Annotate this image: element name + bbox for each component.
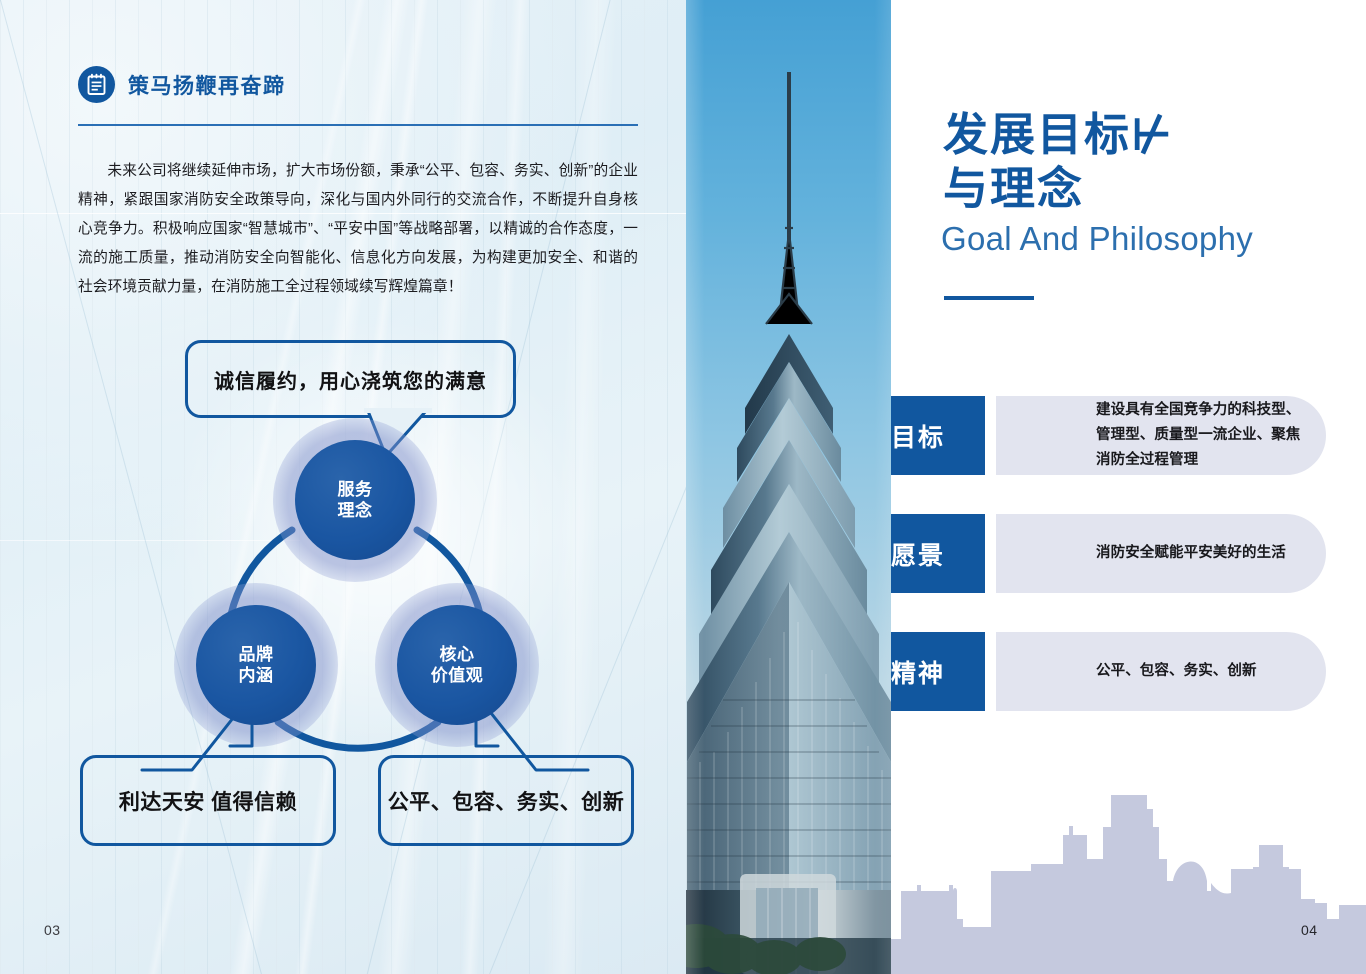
card-body: 建设具有全国竞争力的科技型、管理型、质量型一流企业、聚焦消防全过程管理 xyxy=(996,396,1326,475)
card-description: 公平、包容、务实、创新 xyxy=(996,659,1273,684)
bubble-service-motto: 诚信履约，用心浇筑您的满意 xyxy=(185,340,516,418)
left-page: 策马扬鞭再奋蹄 未来公司将继续延伸市场，扩大市场份额，秉承“公平、包容、务实、创… xyxy=(0,0,686,974)
node-label-line1: 品牌 xyxy=(239,645,274,664)
intro-paragraph: 未来公司将继续延伸市场，扩大市场份额，秉承“公平、包容、务实、创新”的企业精神，… xyxy=(78,157,638,302)
card-tag[interactable]: 企业愿景 xyxy=(891,514,985,593)
node-label: 核心 价值观 xyxy=(431,644,484,686)
node-label-line1: 核心 xyxy=(440,645,475,664)
node-label-line1: 服务 xyxy=(338,480,373,499)
page-title-cn-line1: 发展目标⊬ xyxy=(943,108,1323,162)
section-title: 策马扬鞭再奋蹄 xyxy=(128,70,286,100)
right-page: 发展目标⊬ 与理念 Goal And Philosophy 建设具有全国竞争力的… xyxy=(891,0,1366,974)
page-title-en: Goal And Philosophy xyxy=(941,220,1253,258)
card-description: 消防安全赋能平安美好的生活 xyxy=(996,541,1302,566)
node-label-line2: 内涵 xyxy=(239,666,274,685)
card-description: 建设具有全国竞争力的科技型、管理型、质量型一流企业、聚焦消防全过程管理 xyxy=(996,398,1326,473)
node-core-values: 核心 价值观 xyxy=(397,605,517,725)
bubble-text: 公平、包容、务实、创新 xyxy=(374,786,639,816)
values-diagram: 诚信履约，用心浇筑您的满意 服务 理念 品牌 内涵 xyxy=(60,330,660,850)
bubble-brand-slogan: 利达天安 值得信赖 xyxy=(80,755,336,846)
page-number-left: 03 xyxy=(44,922,61,938)
section-header: 策马扬鞭再奋蹄 xyxy=(78,66,286,103)
building-photo xyxy=(686,0,891,974)
card-tag[interactable]: 发展目标 xyxy=(891,396,985,475)
bubble-text: 利达天安 值得信赖 xyxy=(105,786,311,816)
bubble-spirit: 公平、包容、务实、创新 xyxy=(378,755,634,846)
card-body: 公平、包容、务实、创新 xyxy=(996,632,1326,711)
title-underline xyxy=(944,296,1034,300)
photo-edge-fade xyxy=(686,0,891,974)
city-skyline-graphic xyxy=(891,779,1366,974)
node-service: 服务 理念 xyxy=(295,440,415,560)
node-label: 品牌 内涵 xyxy=(239,644,274,686)
page-title-cn-line2: 与理念 xyxy=(943,162,1323,216)
card-tag[interactable]: 企业精神 xyxy=(891,632,985,711)
brochure-spread: 策马扬鞭再奋蹄 未来公司将继续延伸市场，扩大市场份额，秉承“公平、包容、务实、创… xyxy=(0,0,1366,974)
notepad-icon xyxy=(78,66,115,103)
card-body: 消防安全赋能平安美好的生活 xyxy=(996,514,1326,593)
bubble-text: 诚信履约，用心浇筑您的满意 xyxy=(200,365,501,394)
node-label: 服务 理念 xyxy=(338,479,373,521)
node-label-line2: 价值观 xyxy=(431,666,484,685)
header-divider xyxy=(78,124,638,126)
node-label-line2: 理念 xyxy=(338,501,373,520)
page-title-cn: 发展目标⊬ 与理念 xyxy=(943,108,1323,216)
node-brand: 品牌 内涵 xyxy=(196,605,316,725)
page-number-right: 04 xyxy=(1301,922,1318,938)
